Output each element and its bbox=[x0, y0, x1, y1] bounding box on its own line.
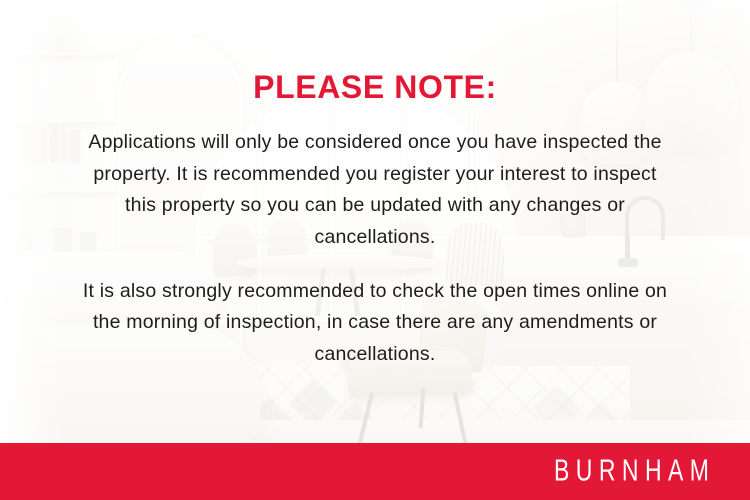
brand-logo: BURNHAM bbox=[554, 454, 715, 489]
notice-paragraph-2: It is also strongly recommended to check… bbox=[77, 276, 673, 371]
notice-card: PLEASE NOTE: Applications will only be c… bbox=[0, 0, 750, 500]
footer-bar: BURNHAM bbox=[0, 443, 750, 500]
notice-paragraph-1: Applications will only be considered onc… bbox=[77, 127, 673, 253]
notice-heading: PLEASE NOTE: bbox=[253, 70, 497, 105]
notice-content: PLEASE NOTE: Applications will only be c… bbox=[0, 0, 750, 443]
